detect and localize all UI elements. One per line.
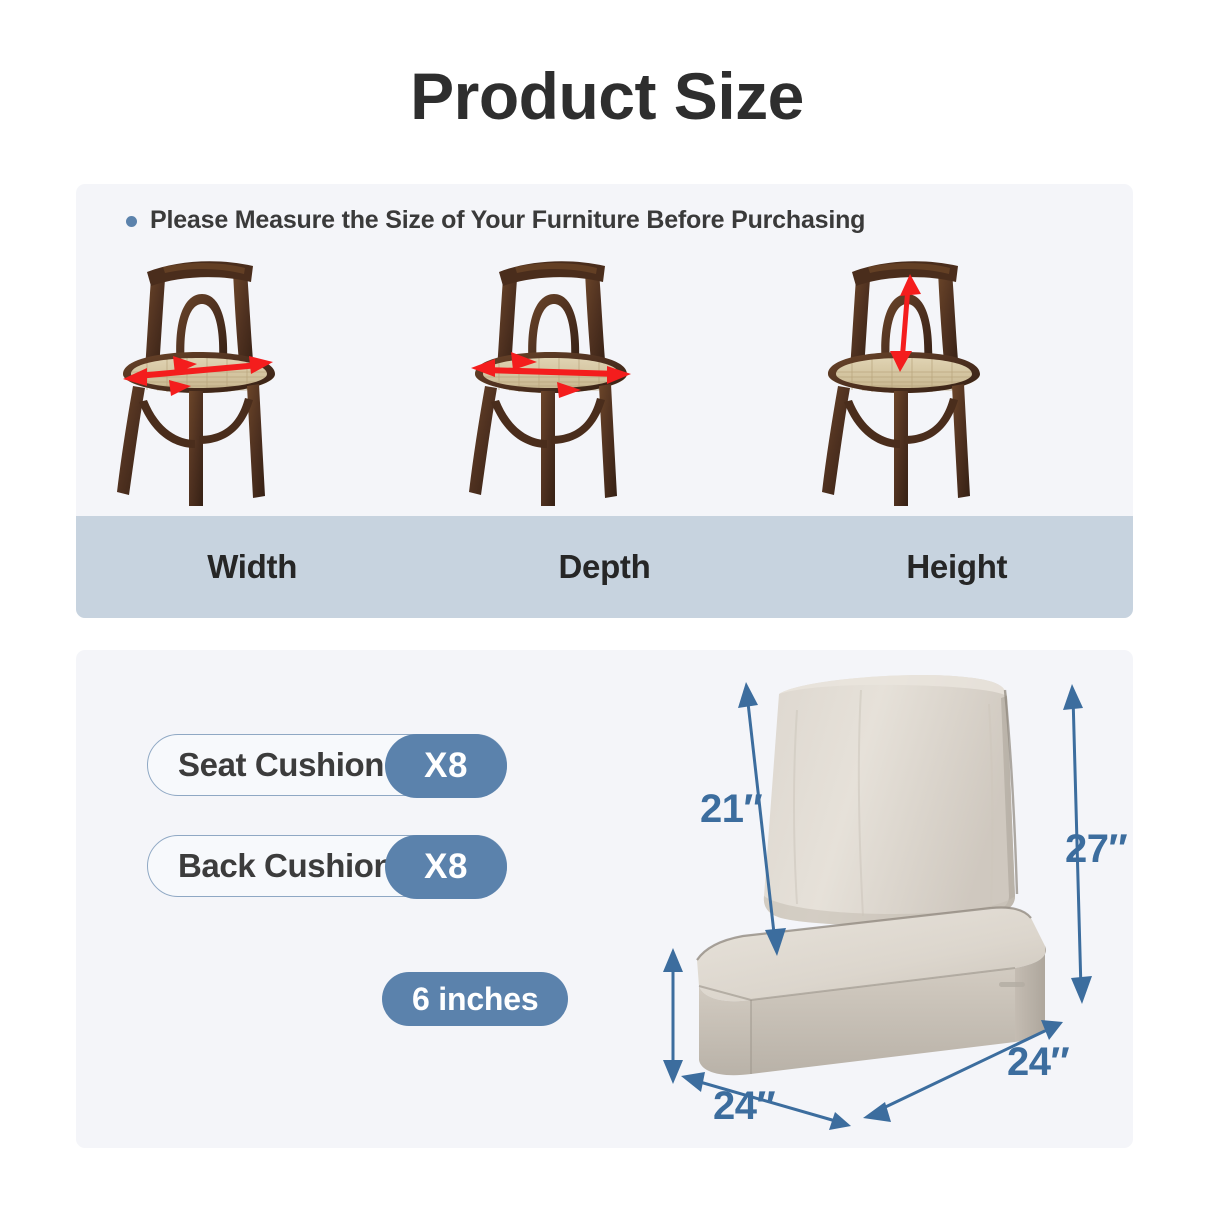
chair-illustrations [76,252,1133,514]
bullet-dot-icon [126,216,137,227]
label-width: Width [76,516,428,618]
measure-card: Please Measure the Size of Your Furnitur… [76,184,1133,618]
chair-height-icon [812,252,1102,514]
product-size-infographic: Product Size Please Measure the Size of … [0,0,1214,1214]
back-cushion-count: X8 [385,835,507,899]
chair-width-cell [76,252,428,514]
chair-depth-icon [459,252,749,514]
label-height: Height [781,516,1133,618]
measure-label-band: Width Depth Height [76,516,1133,618]
dim-label-back-height: 21″ [700,787,762,832]
page-title: Product Size [0,63,1214,129]
back-cushion-pill: Back Cushion X8 [147,835,507,897]
thickness-badge: 6 inches [382,972,568,1026]
seat-cushion-label: Seat Cushion [148,746,384,784]
chair-width-icon [107,252,397,514]
measure-note-text: Please Measure the Size of Your Furnitur… [150,206,865,235]
dimension-card: Seat Cushion X8 Back Cushion X8 6 inches [76,650,1133,1148]
dim-label-seat-width: 24″ [713,1084,775,1129]
back-cushion-label: Back Cushion [148,847,393,885]
seat-cushion-pill: Seat Cushion X8 [147,734,507,796]
measure-note: Please Measure the Size of Your Furnitur… [126,206,865,235]
chair-depth-cell [428,252,780,514]
seat-cushion-count: X8 [385,734,507,798]
label-depth: Depth [428,516,780,618]
chair-height-cell [781,252,1133,514]
dim-label-total-height: 27″ [1065,827,1127,872]
dim-label-seat-depth: 24″ [1007,1040,1069,1085]
